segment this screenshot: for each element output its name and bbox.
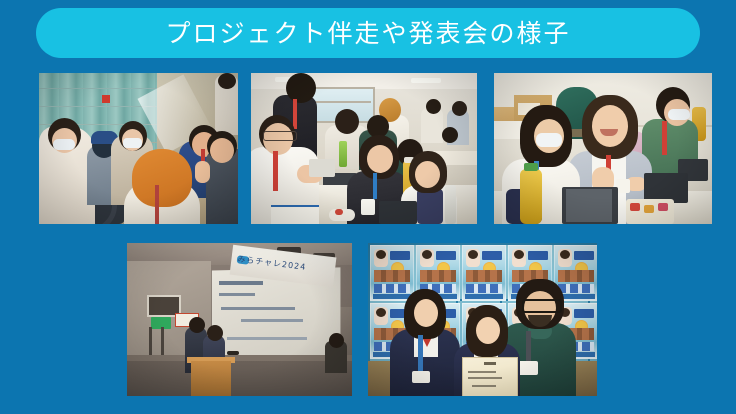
snack-item xyxy=(658,203,668,211)
photo-workshop-classroom xyxy=(251,73,477,224)
audience-person-head xyxy=(329,333,344,348)
hall-floor xyxy=(127,361,352,396)
certificate-text-line xyxy=(468,377,502,379)
person-gray-face xyxy=(210,138,234,163)
student-center-face xyxy=(476,317,500,344)
person-orange-hair xyxy=(132,149,192,207)
photo-auditorium-group-discussion xyxy=(39,73,238,224)
snack-item xyxy=(335,209,343,215)
standing-person-head xyxy=(218,73,236,89)
poster xyxy=(462,245,506,301)
background-person-head xyxy=(426,99,441,114)
certificate-text-line xyxy=(472,385,496,387)
lanyard xyxy=(293,99,297,129)
eyeglasses xyxy=(522,299,562,313)
paper-cup xyxy=(616,179,630,193)
eyeglasses xyxy=(263,131,297,141)
slide-canvas: プロジェクト伴走や発表会の様子 xyxy=(0,0,736,414)
seat-marker xyxy=(102,95,110,103)
bottle-cap xyxy=(524,163,538,171)
presenter-two-head xyxy=(207,325,223,341)
poster xyxy=(370,245,414,301)
page-title: プロジェクト伴走や発表会の様子 xyxy=(165,21,570,46)
student-left-face xyxy=(414,299,438,327)
standing-staff-head xyxy=(286,73,316,103)
face-mask xyxy=(53,139,75,150)
tea-bottle xyxy=(520,169,542,224)
paper-cup xyxy=(361,199,375,215)
slide-text-line xyxy=(241,319,303,322)
photo-mentoring-conversation xyxy=(494,73,712,224)
shoulder-strap xyxy=(155,185,159,224)
printed-handout xyxy=(271,205,319,224)
student-uniform-face xyxy=(415,161,440,188)
slide-text-line xyxy=(227,337,307,340)
student-uniform-vest xyxy=(417,189,443,224)
ceiling-light xyxy=(411,78,441,83)
face-mask xyxy=(536,133,562,147)
photo-award-ceremony xyxy=(368,243,597,396)
tablet-device xyxy=(309,159,335,177)
slide-text-line xyxy=(221,307,295,310)
background-person-head xyxy=(452,101,467,116)
presenter-one-head xyxy=(189,317,205,333)
lanyard xyxy=(273,151,278,191)
student-black-shirt-face xyxy=(367,145,393,173)
tablet-screen xyxy=(566,189,612,222)
window-bar xyxy=(309,101,371,103)
mentor-woman-face xyxy=(592,105,628,147)
green-bottle xyxy=(339,141,347,167)
face-mask xyxy=(668,109,690,120)
slide-heading-line xyxy=(219,281,263,285)
microphone xyxy=(227,351,239,355)
face-mask xyxy=(123,138,142,148)
laptop xyxy=(379,201,417,224)
id-card xyxy=(518,361,538,375)
snack-item xyxy=(630,203,640,211)
seated-person-head xyxy=(335,109,359,134)
id-card xyxy=(412,371,430,383)
snack-item xyxy=(644,205,654,213)
lanyard xyxy=(373,173,377,199)
lanyard xyxy=(662,121,667,155)
certificate-title-line xyxy=(484,362,496,365)
background-person-head xyxy=(442,127,458,143)
podium xyxy=(191,361,231,396)
raised-hand xyxy=(195,161,210,183)
certificate-text-line xyxy=(468,371,496,373)
photo-presentation-hall: みらチャレ2024 xyxy=(127,243,352,396)
slide-text-line xyxy=(219,293,255,296)
water-bottle xyxy=(445,185,456,224)
title-banner: プロジェクト伴走や発表会の様子 xyxy=(36,8,700,58)
